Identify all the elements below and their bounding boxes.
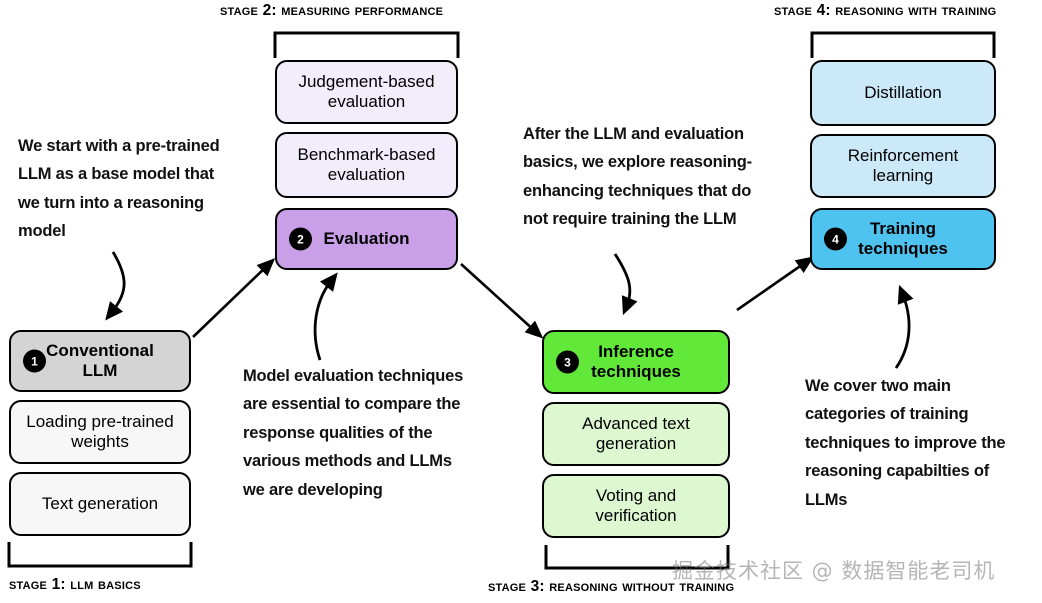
stage-title-2: Stage 2: Measuring Performance xyxy=(220,2,443,20)
node-judgement-based-evaluation[interactable]: Judgement-based evaluation xyxy=(275,60,458,124)
node-voting-and-verification[interactable]: Voting and verification xyxy=(542,474,730,538)
node-distillation[interactable]: Distillation xyxy=(810,60,996,126)
node-label: Judgement-based evaluation xyxy=(292,72,440,112)
annotation-stage1: We start with a pre-trained LLM as a bas… xyxy=(18,132,258,246)
annotation-stage4: We cover two main categories of training… xyxy=(805,372,1040,514)
node-label: Loading pre-trained weights xyxy=(20,412,179,452)
node-reinforcement-learning[interactable]: Reinforcement learning xyxy=(810,134,996,198)
annotation-stage2: Model evaluation techniques are essentia… xyxy=(243,362,508,504)
node-label: Training techniques xyxy=(852,219,954,259)
curve-note1-to-box1 xyxy=(112,252,124,312)
node-training-techniques[interactable]: 4 Training techniques xyxy=(810,208,996,270)
stage-title-4: Stage 4: Reasoning with Training xyxy=(774,2,996,20)
node-label: Distillation xyxy=(858,83,947,103)
node-label: Benchmark-based evaluation xyxy=(292,145,442,185)
stage-title-1: Stage 1: LLM Basics xyxy=(9,576,141,594)
node-label: Voting and verification xyxy=(589,486,682,526)
arrow-stage1-to-stage2 xyxy=(193,265,268,337)
node-label: Text generation xyxy=(36,494,164,514)
curve-note2-to-box2 xyxy=(315,281,331,360)
node-label: Advanced text generation xyxy=(576,414,696,454)
stage2-bracket xyxy=(275,33,458,58)
node-conventional-llm[interactable]: 1 Conventional LLM xyxy=(9,330,191,392)
node-text-generation[interactable]: Text generation xyxy=(9,472,191,536)
annotation-stage3: After the LLM and evaluation basics, we … xyxy=(523,120,785,234)
node-label: Conventional LLM xyxy=(40,341,160,381)
arrow-stage2-to-stage3 xyxy=(461,264,536,332)
node-benchmark-based-evaluation[interactable]: Benchmark-based evaluation xyxy=(275,132,458,198)
node-evaluation[interactable]: 2 Evaluation xyxy=(275,208,458,270)
node-loading-pretrained-weights[interactable]: Loading pre-trained weights xyxy=(9,400,191,464)
arrow-stage3-to-stage4 xyxy=(737,262,806,310)
stage1-bracket xyxy=(9,542,191,566)
badge-1: 1 xyxy=(23,350,46,373)
stage4-bracket xyxy=(812,33,994,58)
badge-2: 2 xyxy=(289,228,312,251)
node-label: Evaluation xyxy=(318,229,416,249)
node-label: Reinforcement learning xyxy=(842,146,965,186)
curve-note4-to-box4 xyxy=(896,295,909,368)
badge-4: 4 xyxy=(824,228,847,251)
node-advanced-text-generation[interactable]: Advanced text generation xyxy=(542,402,730,466)
curve-note3-to-box3 xyxy=(615,254,630,305)
badge-3: 3 xyxy=(556,351,579,374)
diagram-canvas: Stage 2: Measuring Performance Stage 4: … xyxy=(0,0,1042,603)
node-label: Inference techniques xyxy=(585,342,687,382)
watermark: 掘金技术社区 @ 数据智能老司机 xyxy=(672,555,995,585)
node-inference-techniques[interactable]: 3 Inference techniques xyxy=(542,330,730,394)
